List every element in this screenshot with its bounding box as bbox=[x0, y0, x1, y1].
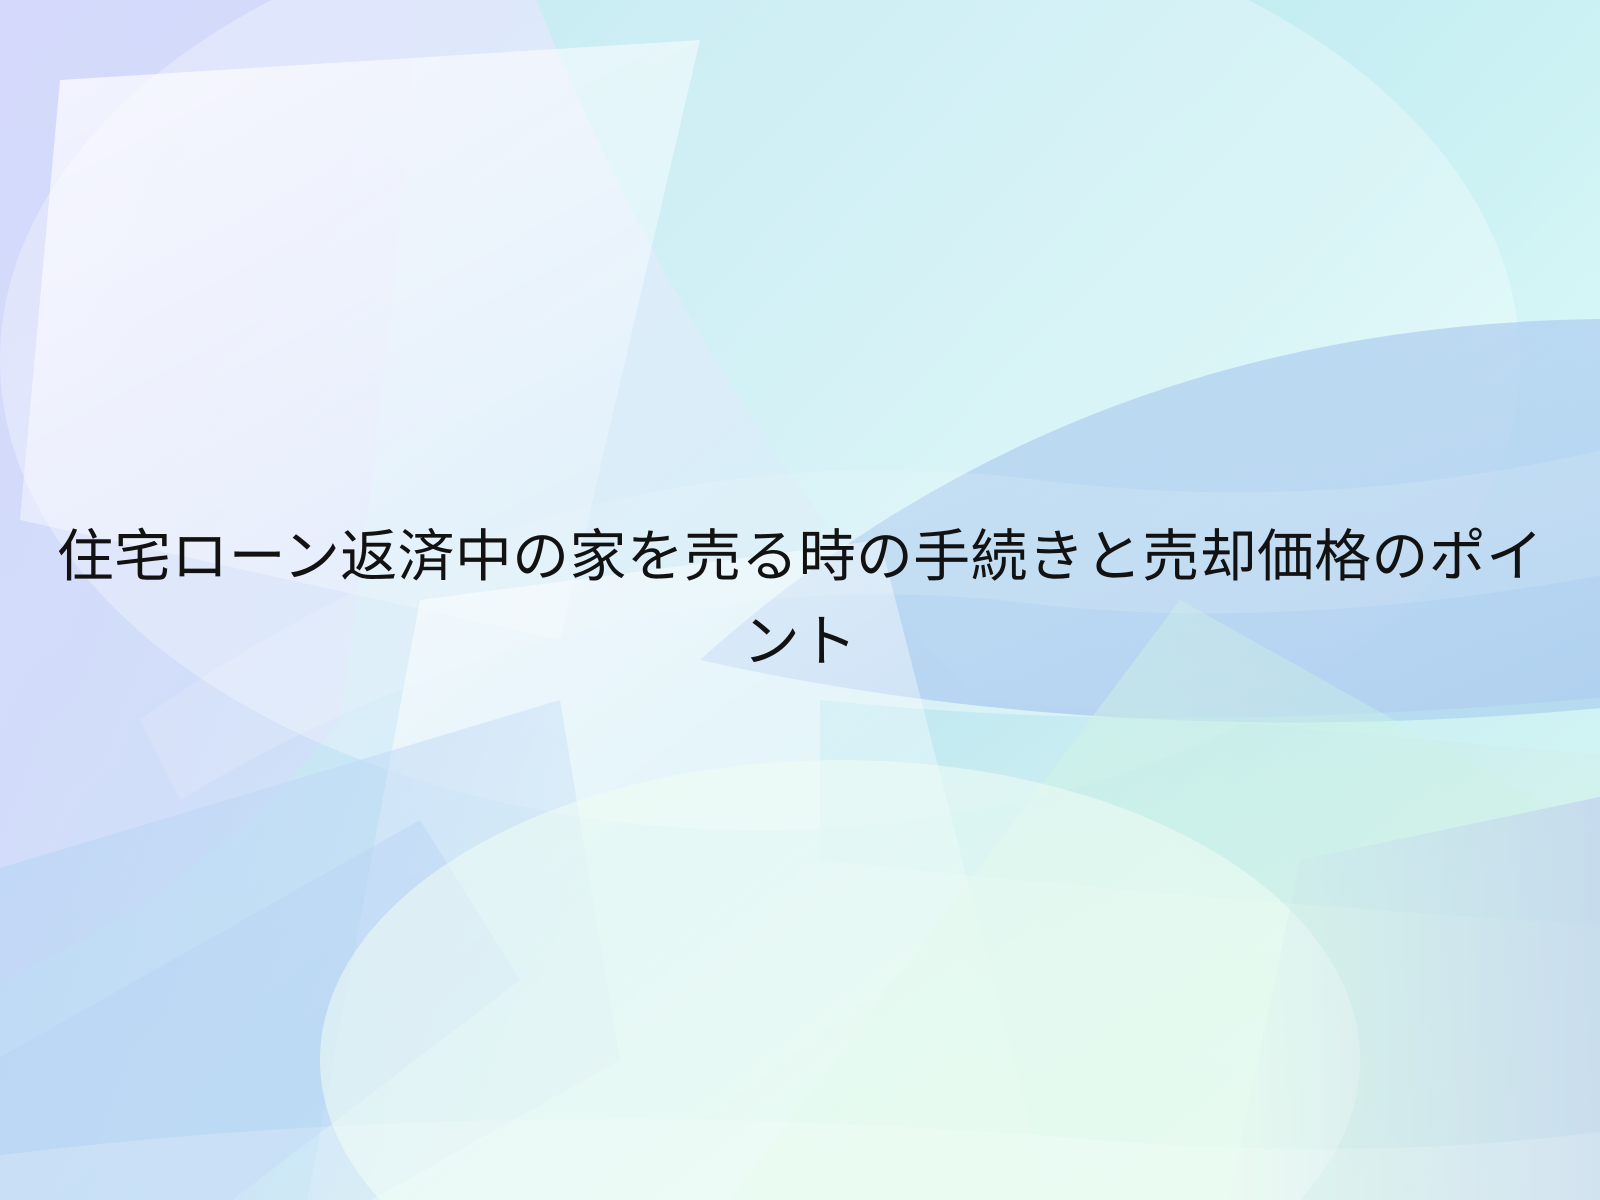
title-slide: 住宅ローン返済中の家を売る時の手続きと売却価格のポイント bbox=[0, 0, 1600, 1200]
decorative-background bbox=[0, 0, 1600, 1200]
